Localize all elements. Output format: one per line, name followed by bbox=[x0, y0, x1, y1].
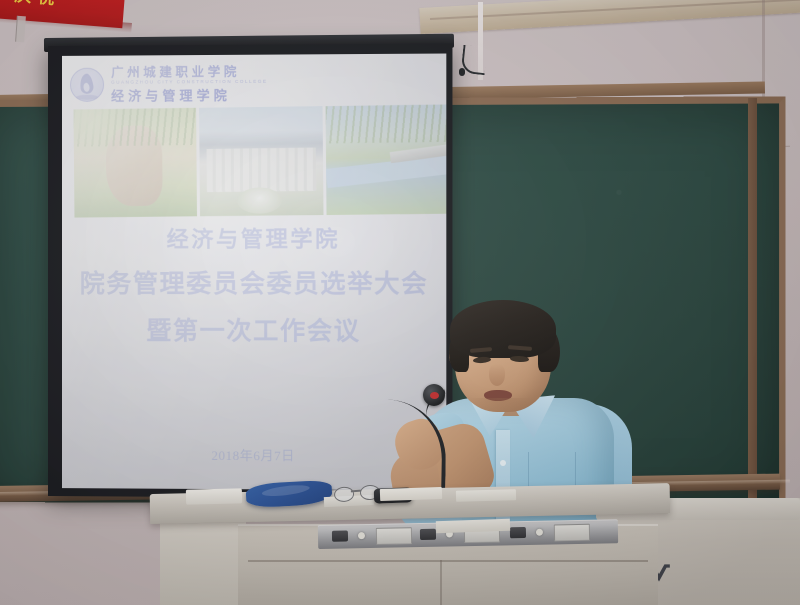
nose bbox=[489, 364, 505, 386]
rack-slot[interactable] bbox=[376, 527, 412, 545]
podium-door-split bbox=[440, 560, 442, 605]
papers-stack bbox=[380, 487, 442, 501]
white-tray bbox=[186, 488, 242, 504]
rack-button[interactable] bbox=[510, 527, 526, 538]
hair bbox=[450, 300, 556, 358]
chin-shadow bbox=[470, 398, 530, 412]
papers-foreground bbox=[436, 519, 510, 534]
rack-slot[interactable] bbox=[554, 524, 590, 542]
podium-left-cabinet bbox=[160, 520, 246, 605]
papers-stack bbox=[456, 489, 516, 502]
rack-led bbox=[536, 529, 543, 536]
lens-left bbox=[334, 486, 355, 502]
shirt-button bbox=[500, 460, 506, 466]
rack-led bbox=[358, 532, 365, 539]
classroom-photo: 庆祝 广州城建职业学院 GUANGZHOU CITY CONSTRUCTION … bbox=[0, 0, 800, 605]
microphone-red-ring bbox=[430, 392, 439, 399]
rack-button[interactable] bbox=[420, 529, 436, 540]
eyeglasses-icon bbox=[334, 484, 379, 501]
rack-button[interactable] bbox=[332, 530, 348, 541]
podium-drawer-seam bbox=[248, 560, 648, 562]
